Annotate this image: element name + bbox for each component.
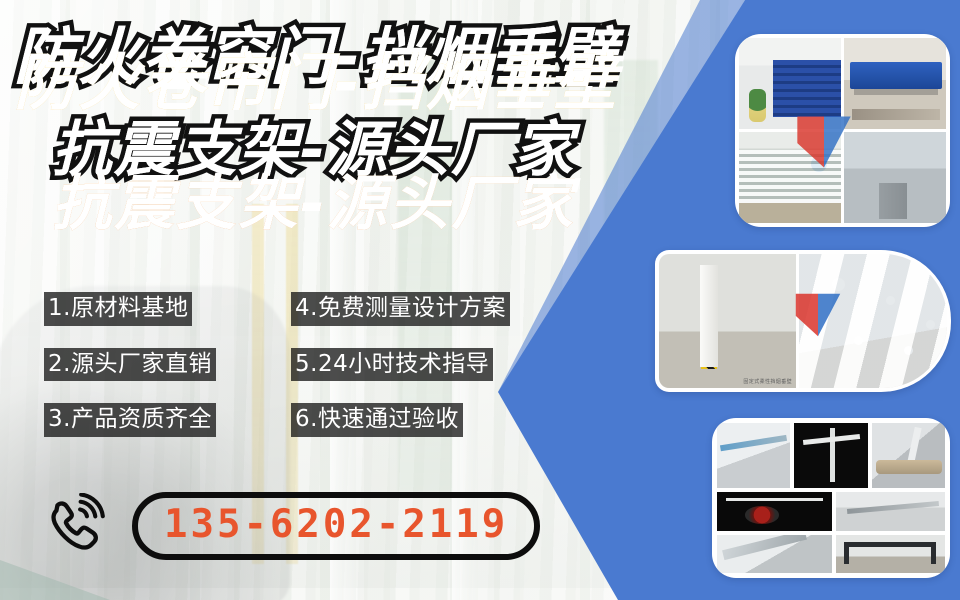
photo-bracket-ceiling-rigging <box>836 492 945 530</box>
photo-ceiling-downlights <box>799 254 947 388</box>
feature-item-2: 2.源头厂家直销 <box>44 348 216 382</box>
headline-line-1: 防火卷帘门-挡烟垂壁防火卷帘门-挡烟垂壁 <box>14 26 700 88</box>
gallery-card-bottom[interactable] <box>712 418 950 578</box>
photo-production-machine <box>844 38 946 129</box>
photo-grey-rolling-shutter <box>739 132 841 223</box>
photo-blue-rolling-shutter-door <box>739 38 841 129</box>
promotional-banner: 防火卷帘门-挡烟垂壁防火卷帘门-挡烟垂壁 抗震支架-源头厂家抗震支架-源头厂家 … <box>0 0 960 600</box>
photo-bracket-frame-dark <box>794 423 867 488</box>
feature-list: 1.原材料基地 4.免费测量设计方案 2.源头厂家直销 5.24小时技术指导 3… <box>44 292 564 459</box>
headline-block: 防火卷帘门-挡烟垂壁防火卷帘门-挡烟垂壁 抗震支架-源头厂家抗震支架-源头厂家 <box>0 26 700 180</box>
photo-parking-garage: 固定式柔性挡烟垂壁 <box>659 254 796 388</box>
feature-row-2: 2.源头厂家直销 5.24小时技术指导 <box>44 348 564 382</box>
photo-bracket-duct-clamp <box>872 423 945 488</box>
gallery-card-middle[interactable]: 固定式柔性挡烟垂壁 <box>655 250 951 392</box>
feature-row-1: 1.原材料基地 4.免费测量设计方案 <box>44 292 564 326</box>
phone-number: 135-6202-2119 <box>164 502 508 547</box>
photo-bracket-pipe-support <box>717 423 790 488</box>
phone-ringing-icon <box>42 493 110 559</box>
feature-item-6: 6.快速通过验收 <box>291 403 463 437</box>
headline-line-2-fill: 抗震支架-源头厂家 <box>52 174 575 234</box>
feature-row-3: 3.产品资质齐全 6.快速通过验收 <box>44 403 564 437</box>
feature-item-1: 1.原材料基地 <box>44 292 192 326</box>
feature-item-5: 5.24小时技术指导 <box>291 348 493 382</box>
phone-number-pill[interactable]: 135-6202-2119 <box>132 492 540 560</box>
headline-line-2: 抗震支架-源头厂家抗震支架-源头厂家 <box>52 120 700 180</box>
photo-caption: 固定式柔性挡烟垂壁 <box>743 378 792 385</box>
gallery-card-top[interactable] <box>735 34 950 227</box>
feature-item-3: 3.产品资质齐全 <box>44 403 216 437</box>
headline-line-1-fill: 防火卷帘门-挡烟垂壁 <box>14 52 618 114</box>
photo-bracket-steel-frame-room <box>836 535 945 573</box>
photo-bracket-duct-hanger <box>717 535 832 573</box>
photo-blue-coil-roll <box>844 132 946 223</box>
feature-item-4: 4.免费测量设计方案 <box>291 292 510 326</box>
contact-row[interactable]: 135-6202-2119 <box>42 492 540 560</box>
photo-bracket-red-fan <box>717 492 832 530</box>
